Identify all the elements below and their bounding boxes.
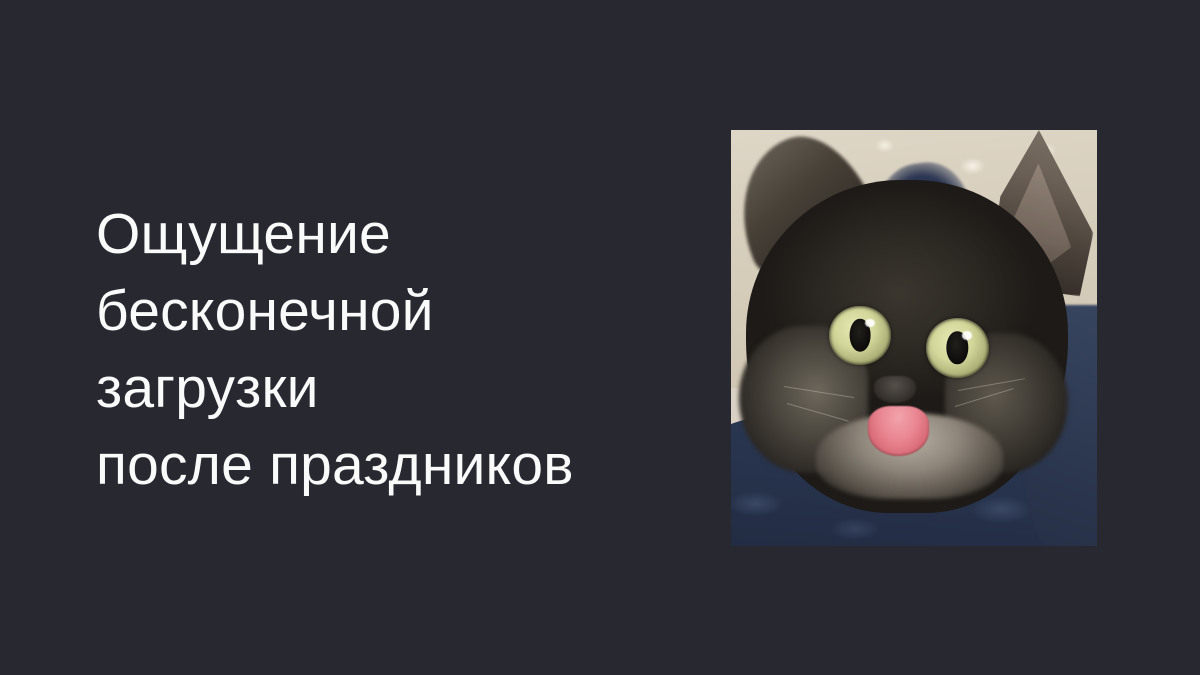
kitten-tongue bbox=[868, 406, 929, 456]
kitten-right-eye bbox=[926, 318, 989, 378]
kitten-photo bbox=[731, 130, 1097, 546]
photo-canvas bbox=[731, 130, 1097, 546]
kitten-nose bbox=[874, 376, 916, 403]
kitten-head bbox=[746, 180, 1068, 513]
kitten-left-eye bbox=[829, 306, 890, 364]
headline-text: Ощущение бесконечной загрузки после праз… bbox=[96, 196, 716, 504]
kitten-right-eye-glint bbox=[962, 331, 972, 339]
kitten-left-eye-glint bbox=[865, 319, 875, 327]
slide: Ощущение бесконечной загрузки после праз… bbox=[0, 0, 1200, 675]
